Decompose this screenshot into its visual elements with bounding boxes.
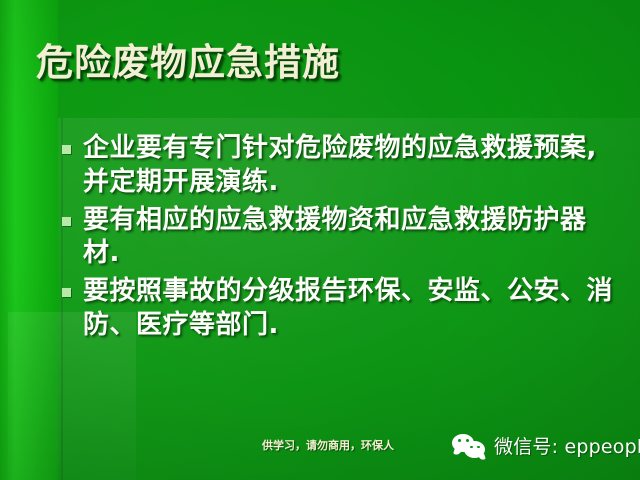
bullet-item-3: 要按照事故的分级报告环保、安监、公安、消防、医疗等部门. bbox=[62, 275, 622, 343]
wechat-bubble-front-eye-right bbox=[477, 446, 480, 449]
bullet-item-3-text: 要按照事故的分级报告环保、安监、公安、消防、医疗等部门. bbox=[83, 275, 622, 343]
wechat-bubble-back-eye-right bbox=[466, 439, 469, 442]
bullet-item-2-text: 要有相应的应急救援物资和应急救援防护器材. bbox=[83, 204, 622, 272]
wechat-contact-block: 微信号: eppeople bbox=[452, 432, 640, 459]
wechat-id-label: 微信号: eppeople bbox=[494, 432, 640, 459]
slide-title: 危险废物应急措施 bbox=[36, 42, 340, 83]
bullet-item-2: 要有相应的应急救援物资和应急救援防护器材. bbox=[62, 204, 622, 272]
square-bullet-icon bbox=[62, 217, 71, 226]
presentation-slide: 危险废物应急措施 企业要有专门针对危险废物的应急救援预案,并定期开展演练. 要有… bbox=[0, 0, 640, 480]
square-bullet-icon bbox=[62, 288, 71, 297]
bullet-item-1: 企业要有专门针对危险废物的应急救援预案,并定期开展演练. bbox=[62, 132, 622, 200]
square-bullet-icon bbox=[62, 145, 71, 154]
wechat-logo-icon bbox=[452, 433, 486, 459]
wechat-bubble-front-eye-left bbox=[470, 446, 473, 449]
wechat-bubble-back-tail bbox=[453, 447, 462, 456]
bullet-item-1-text: 企业要有专门针对危险废物的应急救援预案,并定期开展演练. bbox=[83, 132, 622, 200]
bullet-list: 企业要有专门针对危险废物的应急救援预案,并定期开展演练. 要有相应的应急救援物资… bbox=[62, 132, 622, 347]
footer-disclaimer-note: 供学习，请勿商用，环保人 bbox=[262, 437, 394, 453]
wechat-bubble-back-eye-left bbox=[458, 439, 461, 442]
